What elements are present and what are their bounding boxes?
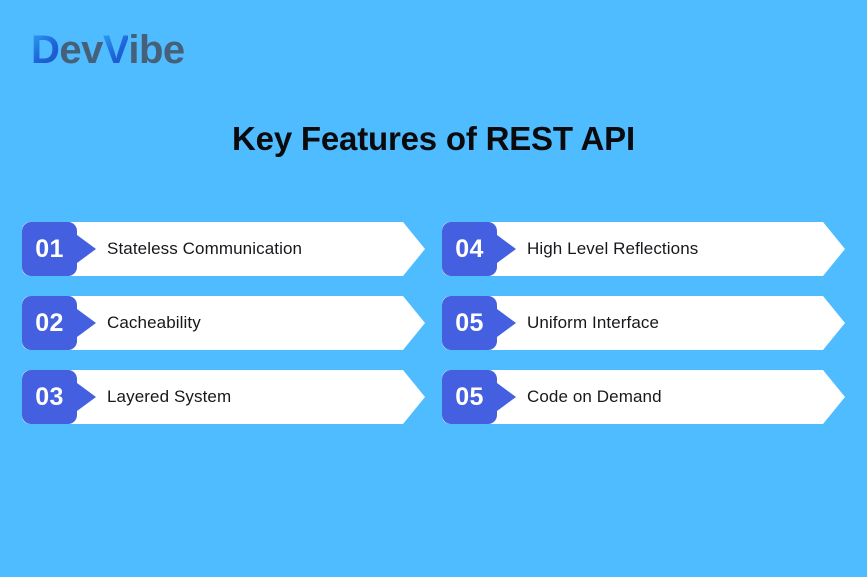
- feature-label: Cacheability: [107, 296, 201, 350]
- feature-number-badge: 05: [442, 296, 497, 350]
- feature-number-badge: 03: [22, 370, 77, 424]
- arrow-right-icon: [497, 309, 516, 337]
- arrow-right-icon: [77, 383, 96, 411]
- brand-logo: DevVibe: [31, 30, 185, 70]
- feature-label: Uniform Interface: [527, 296, 659, 350]
- arrow-right-icon: [77, 309, 96, 337]
- feature-label: High Level Reflections: [527, 222, 698, 276]
- feature-label: Layered System: [107, 370, 231, 424]
- feature-label: Stateless Communication: [107, 222, 302, 276]
- page-title: Key Features of REST API: [0, 120, 867, 158]
- feature-item: 05 Uniform Interface: [442, 296, 845, 350]
- feature-number-badge: 04: [442, 222, 497, 276]
- feature-item: 05 Code on Demand: [442, 370, 845, 424]
- feature-label: Code on Demand: [527, 370, 662, 424]
- feature-item: 03 Layered System: [22, 370, 425, 424]
- feature-number: 01: [35, 237, 63, 262]
- feature-list: 01 Stateless Communication 04 High Level…: [22, 222, 845, 424]
- feature-number: 05: [455, 385, 483, 410]
- arrow-right-icon: [497, 235, 516, 263]
- feature-number-badge: 02: [22, 296, 77, 350]
- feature-item: 02 Cacheability: [22, 296, 425, 350]
- feature-number: 03: [35, 385, 63, 410]
- brand-logo-letter-d: D: [31, 28, 59, 72]
- arrow-right-icon: [77, 235, 96, 263]
- feature-item: 01 Stateless Communication: [22, 222, 425, 276]
- feature-item: 04 High Level Reflections: [442, 222, 845, 276]
- brand-logo-letter-v: V: [103, 28, 128, 72]
- feature-number-badge: 05: [442, 370, 497, 424]
- brand-logo-text-ibe: ibe: [128, 28, 184, 72]
- brand-logo-text-ev: ev: [59, 28, 103, 72]
- feature-number: 02: [35, 311, 63, 336]
- arrow-right-icon: [497, 383, 516, 411]
- feature-number: 04: [455, 237, 483, 262]
- feature-number-badge: 01: [22, 222, 77, 276]
- feature-number: 05: [455, 311, 483, 336]
